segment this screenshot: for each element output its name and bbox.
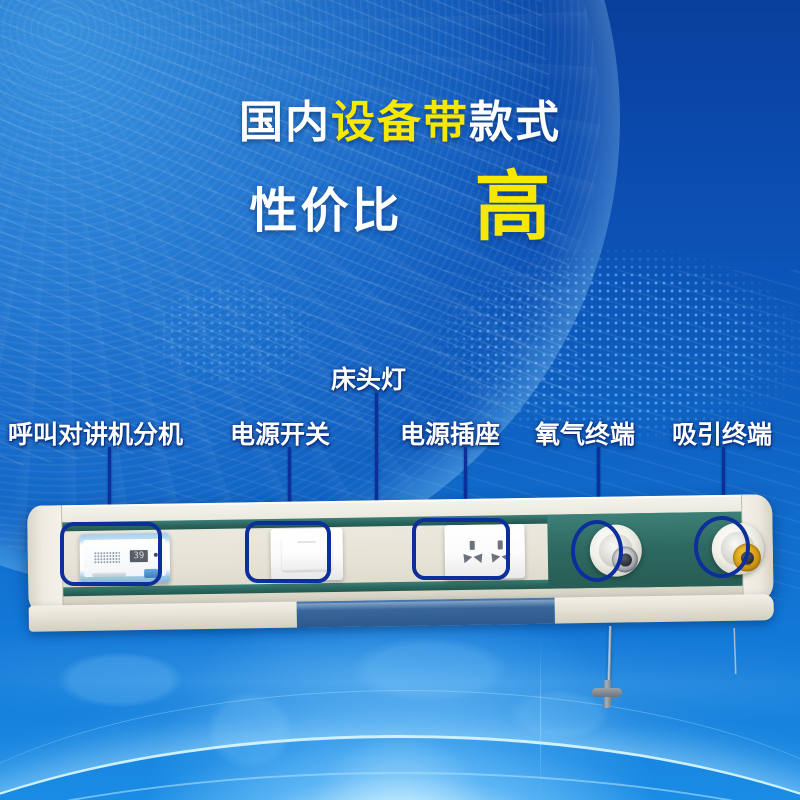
headline-line-2: 性价比高: [0, 168, 800, 241]
headline-block: 国内设备带款式 性价比高: [0, 0, 800, 250]
bed-lamp-diffuser: [297, 598, 555, 628]
oxygen-terminal-marking: O2: [622, 562, 628, 567]
callout-label-oxygen: 氧气终端: [535, 415, 635, 451]
panel-end-cap-left: [27, 505, 64, 614]
hose-pull-handle: [592, 680, 622, 708]
dotted-world-map-center: [120, 255, 320, 405]
callout-label-bedlamp: 床头灯: [331, 360, 406, 396]
callout-label-suction: 吸引终端: [672, 415, 772, 451]
highlight-box-switch: [245, 521, 331, 583]
highlight-circle-suction: [694, 516, 750, 578]
highlight-box-intercom: [60, 522, 162, 586]
highlight-box-socket: [412, 518, 510, 580]
headline-line-1-suffix: 款式: [469, 98, 561, 147]
headline-line-1-prefix: 国内: [239, 98, 331, 147]
highlight-circle-oxygen: [571, 520, 623, 582]
bottom-horizon-glow: [0, 650, 800, 800]
headline-emphasis-character: 高: [475, 174, 551, 242]
callout-label-socket: 电源插座: [400, 415, 500, 451]
headline-line-1: 国内设备带款式: [0, 86, 800, 150]
poster-canvas: 国内设备带款式 性价比高 呼叫对讲机分机 床头灯 电源开关 电源插座 氧气终端 …: [0, 0, 800, 800]
callout-label-switch: 电源开关: [230, 415, 330, 451]
headline-subtitle: 性价比: [249, 185, 402, 238]
callout-label-intercom: 呼叫对讲机分机: [8, 415, 183, 451]
headline-line-1-accent: 设备带: [331, 98, 469, 147]
